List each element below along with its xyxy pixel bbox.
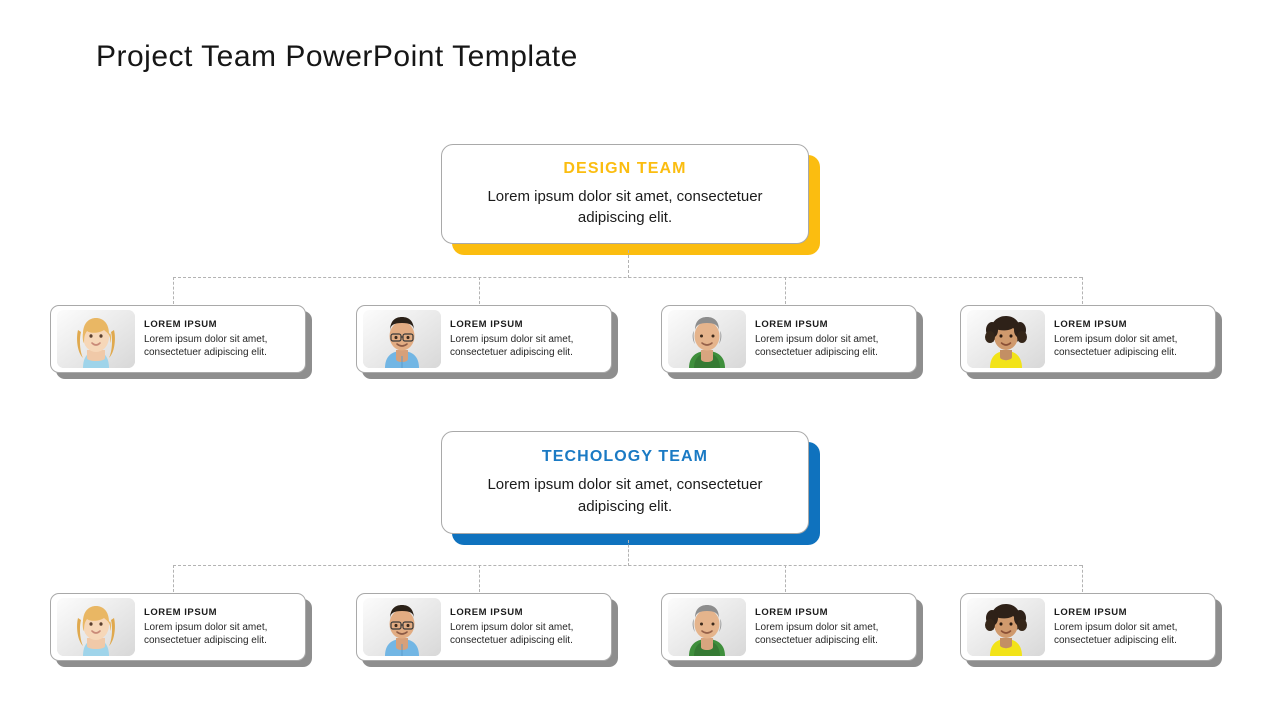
technology-team-description: Lorem ipsum dolor sit amet, consectetuer… [464, 474, 786, 517]
member-card[interactable]: LOREM IPSUM Lorem ipsum dolor sit amet, … [960, 305, 1216, 373]
design-card-face: DESIGN TEAM Lorem ipsum dolor sit amet, … [441, 144, 809, 244]
technology-team-title: TECHOLOGY TEAM [542, 448, 708, 466]
design-team-description: Lorem ipsum dolor sit amet, consectetuer… [464, 186, 786, 229]
member-card-face: LOREM IPSUM Lorem ipsum dolor sit amet, … [960, 593, 1216, 661]
avatar [668, 310, 746, 368]
member-card-face: LOREM IPSUM Lorem ipsum dolor sit amet, … [661, 305, 917, 373]
member-description: Lorem ipsum dolor sit amet, consectetuer… [144, 621, 299, 648]
member-card[interactable]: LOREM IPSUM Lorem ipsum dolor sit amet, … [356, 305, 612, 373]
member-description: Lorem ipsum dolor sit amet, consectetuer… [450, 621, 605, 648]
technology-drop-3 [785, 565, 786, 592]
design-drop-1 [173, 277, 174, 304]
member-text: LOREM IPSUM Lorem ipsum dolor sit amet, … [135, 607, 299, 648]
member-name: LOREM IPSUM [755, 319, 910, 330]
member-name: LOREM IPSUM [144, 607, 299, 618]
member-card[interactable]: LOREM IPSUM Lorem ipsum dolor sit amet, … [661, 593, 917, 661]
avatar [57, 598, 135, 656]
member-text: LOREM IPSUM Lorem ipsum dolor sit amet, … [1045, 607, 1209, 648]
member-description: Lorem ipsum dolor sit amet, consectetuer… [450, 333, 605, 360]
avatar [57, 310, 135, 368]
member-text: LOREM IPSUM Lorem ipsum dolor sit amet, … [135, 319, 299, 360]
technology-bus-line [173, 565, 1082, 566]
technology-drop-2 [479, 565, 480, 592]
member-card-face: LOREM IPSUM Lorem ipsum dolor sit amet, … [50, 593, 306, 661]
avatar [967, 598, 1045, 656]
member-name: LOREM IPSUM [1054, 607, 1209, 618]
member-text: LOREM IPSUM Lorem ipsum dolor sit amet, … [1045, 319, 1209, 360]
design-bus-line [173, 277, 1082, 278]
avatar [363, 598, 441, 656]
member-description: Lorem ipsum dolor sit amet, consectetuer… [755, 621, 910, 648]
technology-trunk-line [628, 540, 629, 566]
member-text: LOREM IPSUM Lorem ipsum dolor sit amet, … [441, 607, 605, 648]
technology-drop-1 [173, 565, 174, 592]
member-text: LOREM IPSUM Lorem ipsum dolor sit amet, … [441, 319, 605, 360]
member-name: LOREM IPSUM [144, 319, 299, 330]
member-name: LOREM IPSUM [755, 607, 910, 618]
member-card[interactable]: LOREM IPSUM Lorem ipsum dolor sit amet, … [960, 593, 1216, 661]
member-name: LOREM IPSUM [450, 607, 605, 618]
design-drop-2 [479, 277, 480, 304]
member-card[interactable]: LOREM IPSUM Lorem ipsum dolor sit amet, … [50, 305, 306, 373]
member-description: Lorem ipsum dolor sit amet, consectetuer… [1054, 621, 1209, 648]
member-card-face: LOREM IPSUM Lorem ipsum dolor sit amet, … [661, 593, 917, 661]
technology-card-face: TECHOLOGY TEAM Lorem ipsum dolor sit ame… [441, 431, 809, 534]
member-name: LOREM IPSUM [1054, 319, 1209, 330]
member-card[interactable]: LOREM IPSUM Lorem ipsum dolor sit amet, … [356, 593, 612, 661]
design-trunk-line [628, 250, 629, 278]
avatar [668, 598, 746, 656]
member-card[interactable]: LOREM IPSUM Lorem ipsum dolor sit amet, … [50, 593, 306, 661]
design-drop-3 [785, 277, 786, 304]
team-card-technology[interactable]: TECHOLOGY TEAM Lorem ipsum dolor sit ame… [441, 431, 809, 534]
member-card-face: LOREM IPSUM Lorem ipsum dolor sit amet, … [356, 593, 612, 661]
design-drop-4 [1082, 277, 1083, 304]
member-name: LOREM IPSUM [450, 319, 605, 330]
avatar [363, 310, 441, 368]
avatar [967, 310, 1045, 368]
page-title: Project Team PowerPoint Template [96, 40, 578, 74]
team-card-design[interactable]: DESIGN TEAM Lorem ipsum dolor sit amet, … [441, 144, 809, 244]
member-card-face: LOREM IPSUM Lorem ipsum dolor sit amet, … [50, 305, 306, 373]
member-card[interactable]: LOREM IPSUM Lorem ipsum dolor sit amet, … [661, 305, 917, 373]
member-description: Lorem ipsum dolor sit amet, consectetuer… [755, 333, 910, 360]
slide-canvas: Project Team PowerPoint Template DESIGN … [0, 0, 1280, 720]
design-team-title: DESIGN TEAM [563, 160, 686, 178]
member-description: Lorem ipsum dolor sit amet, consectetuer… [144, 333, 299, 360]
member-text: LOREM IPSUM Lorem ipsum dolor sit amet, … [746, 319, 910, 360]
member-text: LOREM IPSUM Lorem ipsum dolor sit amet, … [746, 607, 910, 648]
technology-drop-4 [1082, 565, 1083, 592]
member-description: Lorem ipsum dolor sit amet, consectetuer… [1054, 333, 1209, 360]
member-card-face: LOREM IPSUM Lorem ipsum dolor sit amet, … [960, 305, 1216, 373]
member-card-face: LOREM IPSUM Lorem ipsum dolor sit amet, … [356, 305, 612, 373]
